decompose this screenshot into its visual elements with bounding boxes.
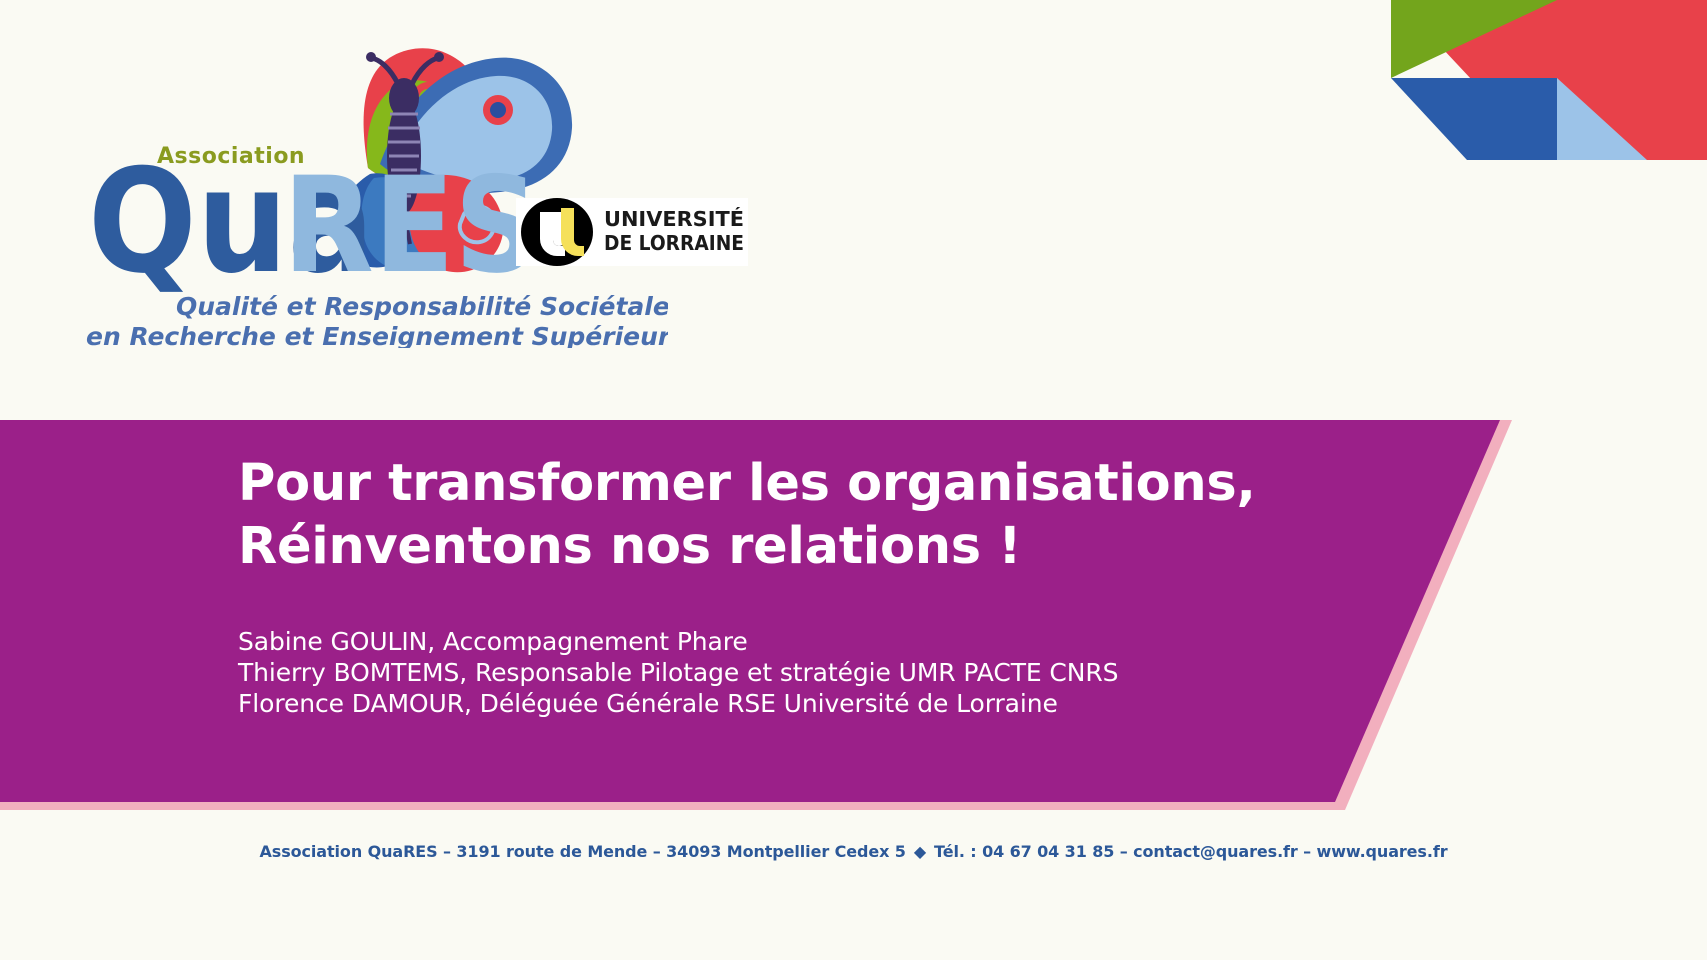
footer-contact-bar: Association QuaRES – 3191 route de Mende… xyxy=(0,842,1707,861)
author-line: Sabine GOULIN, Accompagnement Phare xyxy=(238,626,1318,657)
quares-logo: Association Qua RES Qualité et Responsab… xyxy=(68,38,668,348)
footer-contact: Tél. : 04 67 04 31 85 – contact@quares.f… xyxy=(934,842,1447,861)
light-blue-triangle-icon xyxy=(1557,78,1647,160)
red-triangle-icon xyxy=(1397,0,1707,160)
universite-de-lorraine-logo: UNIVERSITÉ DE LORRAINE xyxy=(516,198,748,266)
page-title: Pour transformer les organisations, Réin… xyxy=(238,452,1318,578)
footer-address: Association QuaRES – 3191 route de Mende… xyxy=(260,842,906,861)
footer-separator-icon: ◆ xyxy=(906,842,934,861)
corner-triangles-decoration xyxy=(1367,0,1707,160)
quares-tagline-line2: en Recherche et Enseignement Supérieur xyxy=(86,322,668,348)
dark-blue-triangle-icon xyxy=(1391,78,1557,160)
ul-name-line1: UNIVERSITÉ xyxy=(604,207,744,231)
title-block: Pour transformer les organisations, Réin… xyxy=(238,452,1318,578)
author-line: Thierry BOMTEMS, Responsable Pilotage et… xyxy=(238,657,1318,688)
green-triangle-icon xyxy=(1391,0,1557,78)
author-line: Florence DAMOUR, Déléguée Générale RSE U… xyxy=(238,688,1318,719)
author-list: Sabine GOULIN, Accompagnement Phare Thie… xyxy=(238,626,1318,719)
ul-monogram-icon xyxy=(521,198,593,266)
ul-name-line2: DE LORRAINE xyxy=(604,231,744,255)
quares-tagline-line1: Qualité et Responsabilité Sociétale xyxy=(176,292,668,321)
presentation-slide: Association Qua RES Qualité et Responsab… xyxy=(0,0,1707,960)
quares-wordmark-res: RES xyxy=(283,149,539,303)
